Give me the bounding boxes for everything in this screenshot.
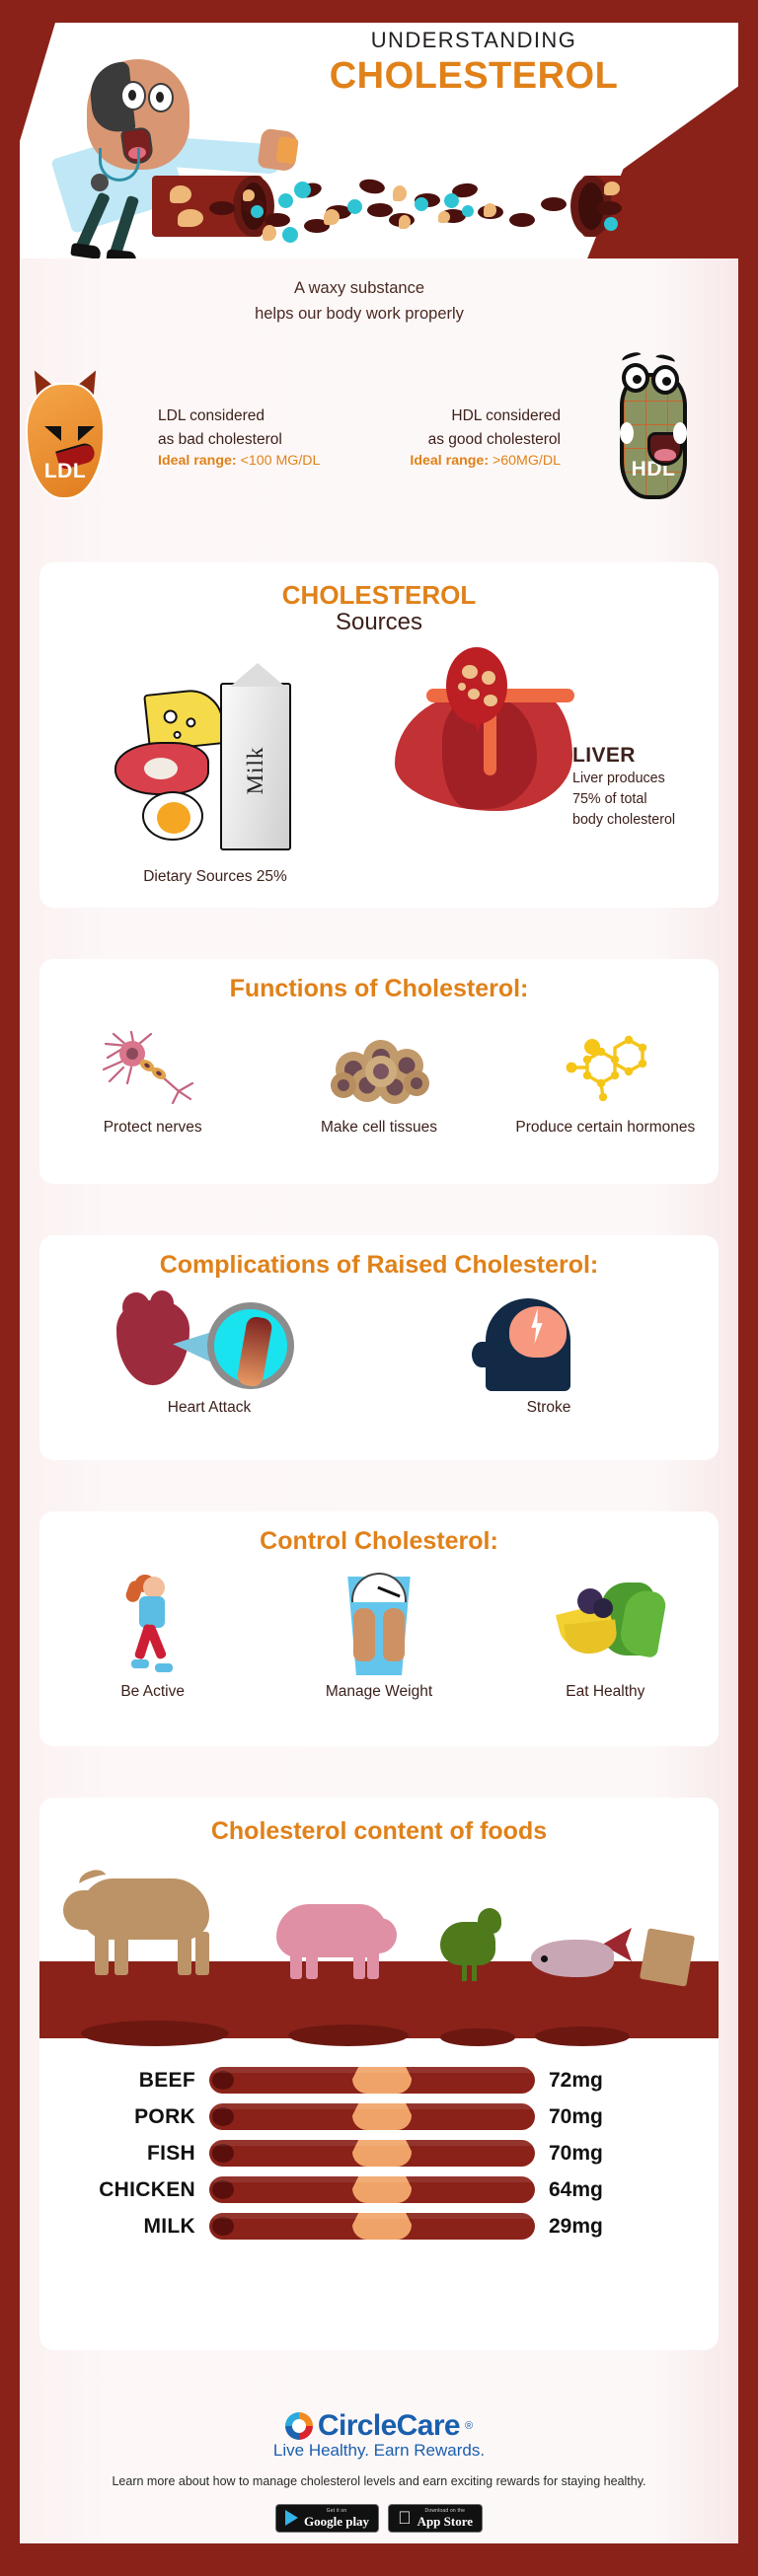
control-label-2: Eat Healthy (493, 1683, 719, 1701)
circlecare-logo-icon (285, 2412, 313, 2440)
ldl-ideal-range: Ideal range: <100 MG/DL (158, 451, 320, 473)
ldl-devil-blob-icon: LDL (18, 363, 113, 506)
control-label-1: Manage Weight (265, 1683, 492, 1701)
page-title: CHOLESTEROL (266, 55, 681, 98)
hormone-molecule-icon (493, 1026, 719, 1105)
cholesterol-sources-card: CHOLESTEROL Sources Milk Dietary Sources… (39, 562, 719, 908)
ldl-badge-label: LDL (28, 460, 103, 483)
hdl-range-value: >60MG/DL (489, 453, 561, 469)
bar-label-2: FISH (39, 2142, 209, 2166)
bar-value-4: 29mg (549, 2215, 603, 2239)
food-content-card: Cholesterol content of foods (39, 1798, 719, 2350)
sources-title: CHOLESTEROL (39, 580, 719, 611)
liver-line-2: 75% of total (572, 790, 707, 809)
bar-track-3 (209, 2176, 535, 2203)
footer: CircleCare ® Live Healthy. Earn Rewards.… (20, 2364, 738, 2543)
bar-row: MILK 29mg (39, 2210, 719, 2243)
complication-label-0: Heart Attack (39, 1399, 379, 1417)
hdl-ideal-range: Ideal range: >60MG/DL (410, 451, 561, 473)
liver-text-block: LIVER Liver produces 75% of total body c… (572, 744, 707, 830)
control-item-be-active: Be Active (39, 1573, 265, 1679)
chart-title: Cholesterol content of foods (39, 1798, 719, 1846)
control-title: Control Cholesterol: (39, 1511, 719, 1556)
cracker-icon (640, 1928, 695, 1987)
header-title-block: UNDERSTANDING CHOLESTEROL (266, 28, 681, 98)
control-item-eat-healthy: Eat Healthy (493, 1573, 719, 1679)
app-store-main: App Store (417, 2515, 473, 2528)
bar-track-2 (209, 2140, 535, 2167)
liver-heading: LIVER (572, 744, 707, 768)
weight-scale-icon (265, 1573, 492, 1679)
ldl-line-2: as bad cholesterol (158, 428, 320, 452)
bar-row: BEEF 72mg (39, 2064, 719, 2097)
hdl-text-block: HDL considered as good cholesterol Ideal… (410, 405, 561, 473)
brand-tagline: Live Healthy. Earn Rewards. (20, 2441, 738, 2461)
neuron-icon (39, 1026, 265, 1105)
cow-icon (63, 1869, 221, 1979)
bar-value-2: 70mg (549, 2142, 603, 2166)
control-item-manage-weight: Manage Weight (265, 1573, 492, 1679)
liver-group: LIVER Liver produces 75% of total body c… (385, 653, 701, 821)
function-label-2: Produce certain hormones (493, 1117, 719, 1138)
complication-label-1: Stroke (379, 1399, 719, 1417)
chicken-icon (434, 1908, 513, 1983)
bar-value-1: 70mg (549, 2105, 603, 2129)
ldl-range-value: <100 MG/DL (237, 453, 321, 469)
functions-title: Functions of Cholesterol: (39, 959, 719, 1003)
intro-text: A waxy substance helps our body work pro… (0, 276, 719, 327)
hdl-line-2: as good cholesterol (410, 428, 561, 452)
lipoprotein-row: LDL LDL considered as bad cholesterol Id… (0, 363, 719, 521)
footer-learn-more-text: Learn more about how to manage cholester… (20, 2474, 738, 2488)
header-eyebrow: UNDERSTANDING (266, 28, 681, 53)
intro-line-1: A waxy substance (0, 276, 719, 302)
complications-card: Complications of Raised Cholesterol: Hea… (39, 1235, 719, 1460)
control-card: Control Cholesterol: Be Active (39, 1511, 719, 1746)
sources-subtitle: Sources (39, 609, 719, 636)
google-play-icon (285, 2510, 298, 2526)
google-play-main: Google play (304, 2515, 369, 2528)
hdl-happy-peanut-icon: HDL (606, 355, 701, 508)
artery-right-icon (582, 176, 709, 237)
bar-track-0 (209, 2067, 535, 2094)
app-store-badge[interactable]:  Download on the App Store (388, 2504, 483, 2533)
dairy-meat-egg-icon: Milk (67, 671, 363, 858)
bar-track-4 (209, 2213, 535, 2240)
heart-artery-zoom-icon (39, 1296, 379, 1395)
functions-card: Functions of Cholesterol: (39, 959, 719, 1184)
pig-icon (266, 1904, 397, 1981)
ldl-line-1: LDL considered (158, 405, 320, 428)
google-play-badge[interactable]: Get it on Google play (275, 2504, 379, 2533)
bar-track-1 (209, 2103, 535, 2130)
footer-bottom-band (20, 2543, 738, 2576)
hdl-line-1: HDL considered (410, 405, 561, 428)
function-label-1: Make cell tissues (265, 1117, 492, 1138)
complications-title: Complications of Raised Cholesterol: (39, 1235, 719, 1280)
runner-icon (39, 1573, 265, 1679)
fruits-vegetables-icon (493, 1573, 719, 1679)
liver-line-1: Liver produces (572, 770, 707, 788)
complication-item-stroke: Stroke (379, 1296, 719, 1395)
complication-item-heart-attack: Heart Attack (39, 1296, 379, 1395)
liver-line-3: body cholesterol (572, 811, 707, 830)
ldl-range-label: Ideal range: (158, 453, 237, 469)
dietary-sources-group: Milk Dietary Sources 25% (67, 671, 363, 858)
cholesterol-bar-chart: BEEF 72mg PORK 70mg FISH 70mg (39, 2064, 719, 2246)
bar-value-0: 72mg (549, 2069, 603, 2093)
cell-cluster-icon (265, 1026, 492, 1105)
function-label-0: Protect nerves (39, 1117, 265, 1138)
milk-carton-label: Milk (243, 737, 268, 804)
head-brain-bolt-icon (379, 1296, 719, 1395)
infographic-frame: UNDERSTANDING CHOLESTEROL (0, 0, 758, 2576)
app-store-badges: Get it on Google play  Download on the … (20, 2504, 738, 2533)
function-item-protect-nerves: Protect nerves (39, 1026, 265, 1138)
bar-label-0: BEEF (39, 2069, 209, 2093)
hdl-range-label: Ideal range: (410, 453, 489, 469)
function-item-cell-tissues: Make cell tissues (265, 1026, 492, 1138)
bar-row: FISH 70mg (39, 2137, 719, 2170)
brand-logo[interactable]: CircleCare ® (20, 2409, 738, 2443)
brand-name: CircleCare (318, 2409, 460, 2443)
bar-row: PORK 70mg (39, 2100, 719, 2133)
intro-line-2: helps our body work properly (0, 302, 719, 328)
bar-label-1: PORK (39, 2105, 209, 2129)
control-label-0: Be Active (39, 1683, 265, 1701)
fish-icon (527, 1932, 636, 1983)
apple-icon:  (398, 2509, 412, 2527)
ldl-text-block: LDL considered as bad cholesterol Ideal … (158, 405, 320, 473)
function-item-hormones: Produce certain hormones (493, 1026, 719, 1138)
dietary-sources-caption: Dietary Sources 25% (67, 868, 363, 886)
bar-label-3: CHICKEN (39, 2178, 209, 2202)
registered-mark: ® (465, 2420, 473, 2432)
bar-row: CHICKEN 64mg (39, 2173, 719, 2206)
bar-label-4: MILK (39, 2215, 209, 2239)
bar-value-3: 64mg (549, 2178, 603, 2202)
